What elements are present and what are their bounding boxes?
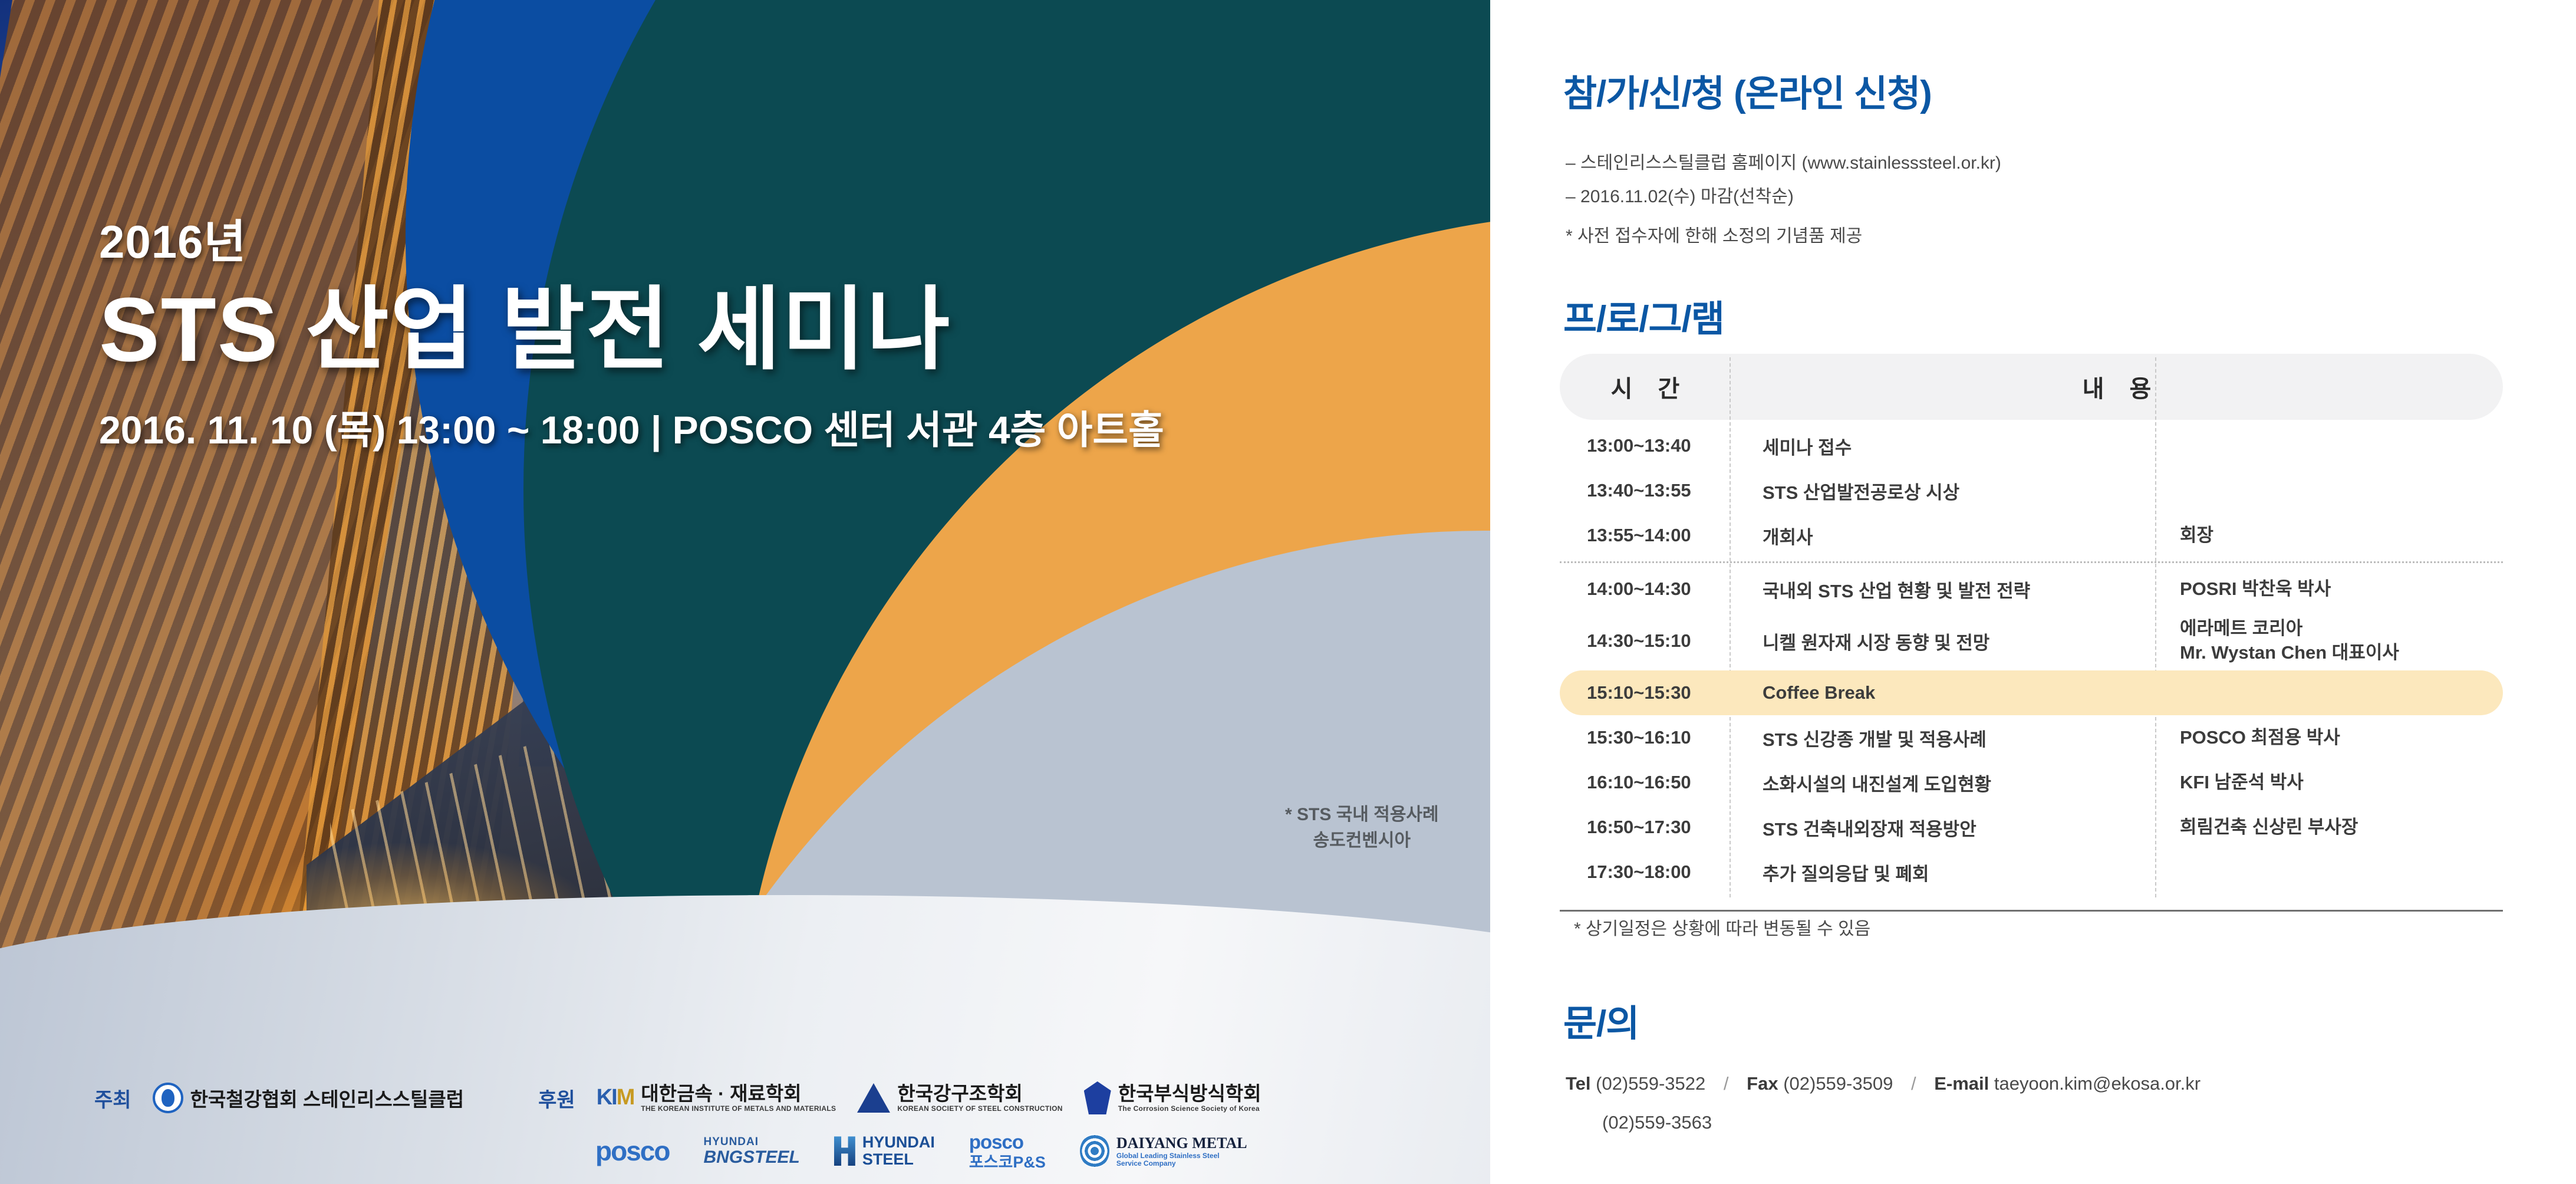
fax-label: Fax [1747,1073,1778,1094]
posco-logo: posco [595,1135,669,1167]
bng-main: BNG [703,1147,743,1167]
pns-top: posco [969,1132,1046,1153]
kim-org-name: 대한금속 · 재료학회 [641,1083,836,1105]
program-footnote: * 상기일정은 상황에 따라 변동될 수 있음 [1574,914,1870,940]
column-header-time: 시 간 [1560,370,1731,404]
host-org-name: 한국철강협회 스테인리스스틸클럽 [190,1084,465,1112]
tel-label: Tel [1566,1073,1591,1094]
row-topic: 소화시설의 내진설계 도입현황 [1730,769,2155,796]
row-time: 16:10~16:50 [1560,772,1730,793]
sponsor-row-companies: posco HYUNDAI BNGSTEEL HYUNDAI STEEL pos… [595,1132,1247,1171]
apply-note: * 사전 접수자에 한해 소정의 기념품 제공 [1566,221,1862,247]
row-speaker: KFI 남준석 박사 [2155,771,2503,795]
table-row: 17:30~18:00 추가 질의응답 및 폐회 [1560,850,2503,894]
posco-pns-logo: posco 포스코P&S [969,1132,1046,1171]
right-info-panel: 참/가/신/청 (온라인 신청) – 스테인리스스틸클럽 홈페이지 (www.s… [1490,0,2576,1184]
table-row: 15:30~16:10 STS 신강종 개발 및 적용사례 POSCO 최점용 … [1560,715,2503,760]
contact-line-primary: Tel (02)559-3522 / Fax (02)559-3509 / E-… [1566,1073,2201,1094]
table-bottom-rule [1560,910,2503,912]
row-speaker: POSRI 박찬욱 박사 [2155,577,2503,601]
row-time: 15:10~15:30 [1560,682,1730,703]
support-org-cssk: 한국부식방식학회 The Corrosion Science Society o… [1084,1081,1261,1114]
row-time: 16:50~17:30 [1560,817,1730,838]
tel-value: (02)559-3522 [1596,1073,1705,1094]
row-topic: 니켈 원자재 시장 동향 및 전망 [1730,628,2155,655]
row-topic: STS 신강종 개발 및 적용사례 [1730,725,2155,751]
column-header-topic: 내 용 [1731,370,2503,404]
fax-value: (02)559-3509 [1783,1073,1893,1094]
daiyang-target-icon [1080,1134,1109,1168]
cssk-org-sub: The Corrosion Science Society of Korea [1118,1105,1261,1113]
bng-top: HYUNDAI [703,1136,799,1148]
poster-year: 2016년 [99,205,1164,271]
photo-caption-line-1: * STS 국내 적용사례 [1285,802,1439,828]
bng-tail: STEEL [743,1147,800,1167]
bng-steel-logo: HYUNDAI BNGSTEEL [703,1136,799,1166]
table-row: 13:40~13:55 STS 산업발전공로상 시상 [1560,468,2503,513]
cssk-logo-icon [1084,1081,1111,1114]
seminar-poster: 2016년 STS 산업 발전 세미나 2016. 11. 10 (목) 13:… [0,0,2576,1184]
title-block: 2016년 STS 산업 발전 세미나 2016. 11. 10 (목) 13:… [99,205,1164,455]
kssc-logo-icon [857,1083,890,1113]
email-value[interactable]: taeyoon.kim@ekosa.or.kr [1994,1073,2201,1094]
table-body: 13:00~13:40 세미나 접수 13:40~13:55 STS 산업발전공… [1560,420,2503,912]
kssc-org-sub: KOREAN SOCIETY OF STEEL CONSTRUCTION [897,1105,1062,1113]
contact-separator-2: / [1898,1073,1929,1094]
apply-heading: 참/가/신/청 (온라인 신청) [1563,64,1932,117]
kssc-org-name: 한국강구조학회 [897,1083,1062,1105]
row-time: 13:40~13:55 [1560,480,1730,501]
row-speaker-line-1: 에라메트 코리아 [2180,617,2503,641]
row-topic: STS 건축내외장재 적용방안 [1730,814,2155,841]
host-org: 한국철강협회 스테인리스스틸클럽 [153,1083,465,1113]
hyundai-bottom: STEEL [862,1151,935,1169]
row-topic: Coffee Break [1730,682,2155,703]
section-divider [1560,561,2503,563]
hyundai-steel-logo: HYUNDAI STEEL [834,1134,935,1169]
poster-subtitle: 2016. 11. 10 (목) 13:00 ~ 18:00 | POSCO 센… [99,399,1164,455]
row-speaker: POSCO 최점용 박사 [2155,726,2503,750]
table-row: 16:50~17:30 STS 건축내외장재 적용방안 희림건축 신상린 부사장 [1560,805,2503,850]
row-topic: STS 산업발전공로상 시상 [1730,478,2155,504]
apply-bullet-website: – 스테인리스스틸클럽 홈페이지 (www.stainlesssteel.or.… [1566,146,2001,180]
contact-heading: 문/의 [1563,994,1639,1047]
row-speaker-line-2: Mr. Wystan Chen 대표이사 [2180,641,2503,665]
support-org-kim: KIM 대한금속 · 재료학회 THE KOREAN INSTITUTE OF … [597,1083,836,1113]
daiyang-metal-logo: DAIYANG METAL Global Leading Stainless S… [1080,1134,1247,1168]
poster-title: STS 산업 발전 세미나 [99,281,1164,379]
row-time: 15:30~16:10 [1560,727,1730,748]
row-topic: 세미나 접수 [1730,433,2155,459]
contact-separator-1: / [1711,1073,1742,1094]
table-row: 13:55~14:00 개회사 회장 [1560,513,2503,558]
row-topic: 개회사 [1730,522,2155,549]
table-header-row: 시 간 내 용 [1560,354,2503,420]
daiyang-sub-2: Service Company [1116,1160,1247,1167]
kim-logo-icon: KIM [597,1085,634,1110]
apply-bullet-deadline: – 2016.11.02(수) 마감(선착순) [1566,180,2001,213]
program-table: 시 간 내 용 13:00~13:40 세미나 접수 13:40~13:55 S… [1560,354,2503,912]
support-org-kssc: 한국강구조학회 KOREAN SOCIETY OF STEEL CONSTRUC… [857,1083,1062,1113]
program-heading: 프/로/그/램 [1563,289,1724,342]
hyundai-top: HYUNDAI [862,1134,935,1152]
table-row: 14:00~14:30 국내외 STS 산업 현황 및 발전 전략 POSRI … [1560,567,2503,611]
hyundai-h-icon [834,1136,855,1166]
email-label: E-mail [1934,1073,1989,1094]
support-label: 후원 [538,1084,575,1113]
table-row: 16:10~16:50 소화시설의 내진설계 도입현황 KFI 남준석 박사 [1560,760,2503,805]
pns-bottom: 포스코P&S [969,1153,1046,1171]
cssk-org-name: 한국부식방식학회 [1118,1083,1261,1105]
daiyang-sub-1: Global Leading Stainless Steel [1116,1152,1247,1160]
tel-secondary: (02)559-3563 [1602,1112,1712,1133]
apply-bullet-list: – 스테인리스스틸클럽 홈페이지 (www.stainlesssteel.or.… [1566,146,2001,213]
row-time: 13:55~14:00 [1560,525,1730,546]
table-row: 14:30~15:10 니켈 원자재 시장 동향 및 전망 에라메트 코리아 M… [1560,611,2503,670]
left-visual-panel: 2016년 STS 산업 발전 세미나 2016. 11. 10 (목) 13:… [0,0,1490,1184]
row-time: 14:00~14:30 [1560,578,1730,600]
photo-caption: * STS 국내 적용사례 송도컨벤시아 [1285,802,1439,853]
row-speaker: 희림건축 신상린 부사장 [2155,815,2503,840]
row-speaker: 에라메트 코리아 Mr. Wystan Chen 대표이사 [2155,617,2503,665]
sponsor-row-primary: 주최 한국철강협회 스테인리스스틸클럽 후원 KIM 대한금속 · 재료학회 T… [94,1081,1261,1114]
row-speaker: 회장 [2155,524,2503,548]
row-topic: 국내외 STS 산업 현황 및 발전 전략 [1730,576,2155,603]
kisa-seal-icon [153,1083,183,1113]
row-topic: 추가 질의응답 및 폐회 [1730,859,2155,886]
row-time: 14:30~15:10 [1560,630,1730,652]
kim-org-sub: THE KOREAN INSTITUTE OF METALS AND MATER… [641,1105,836,1113]
daiyang-name: DAIYANG METAL [1116,1134,1247,1152]
row-time: 13:00~13:40 [1560,435,1730,456]
host-label: 주최 [94,1084,131,1113]
table-row-coffee-break: 15:10~15:30 Coffee Break [1560,670,2503,715]
photo-caption-line-2: 송도컨벤시아 [1285,828,1439,854]
table-row: 13:00~13:40 세미나 접수 [1560,423,2503,468]
row-time: 17:30~18:00 [1560,861,1730,883]
